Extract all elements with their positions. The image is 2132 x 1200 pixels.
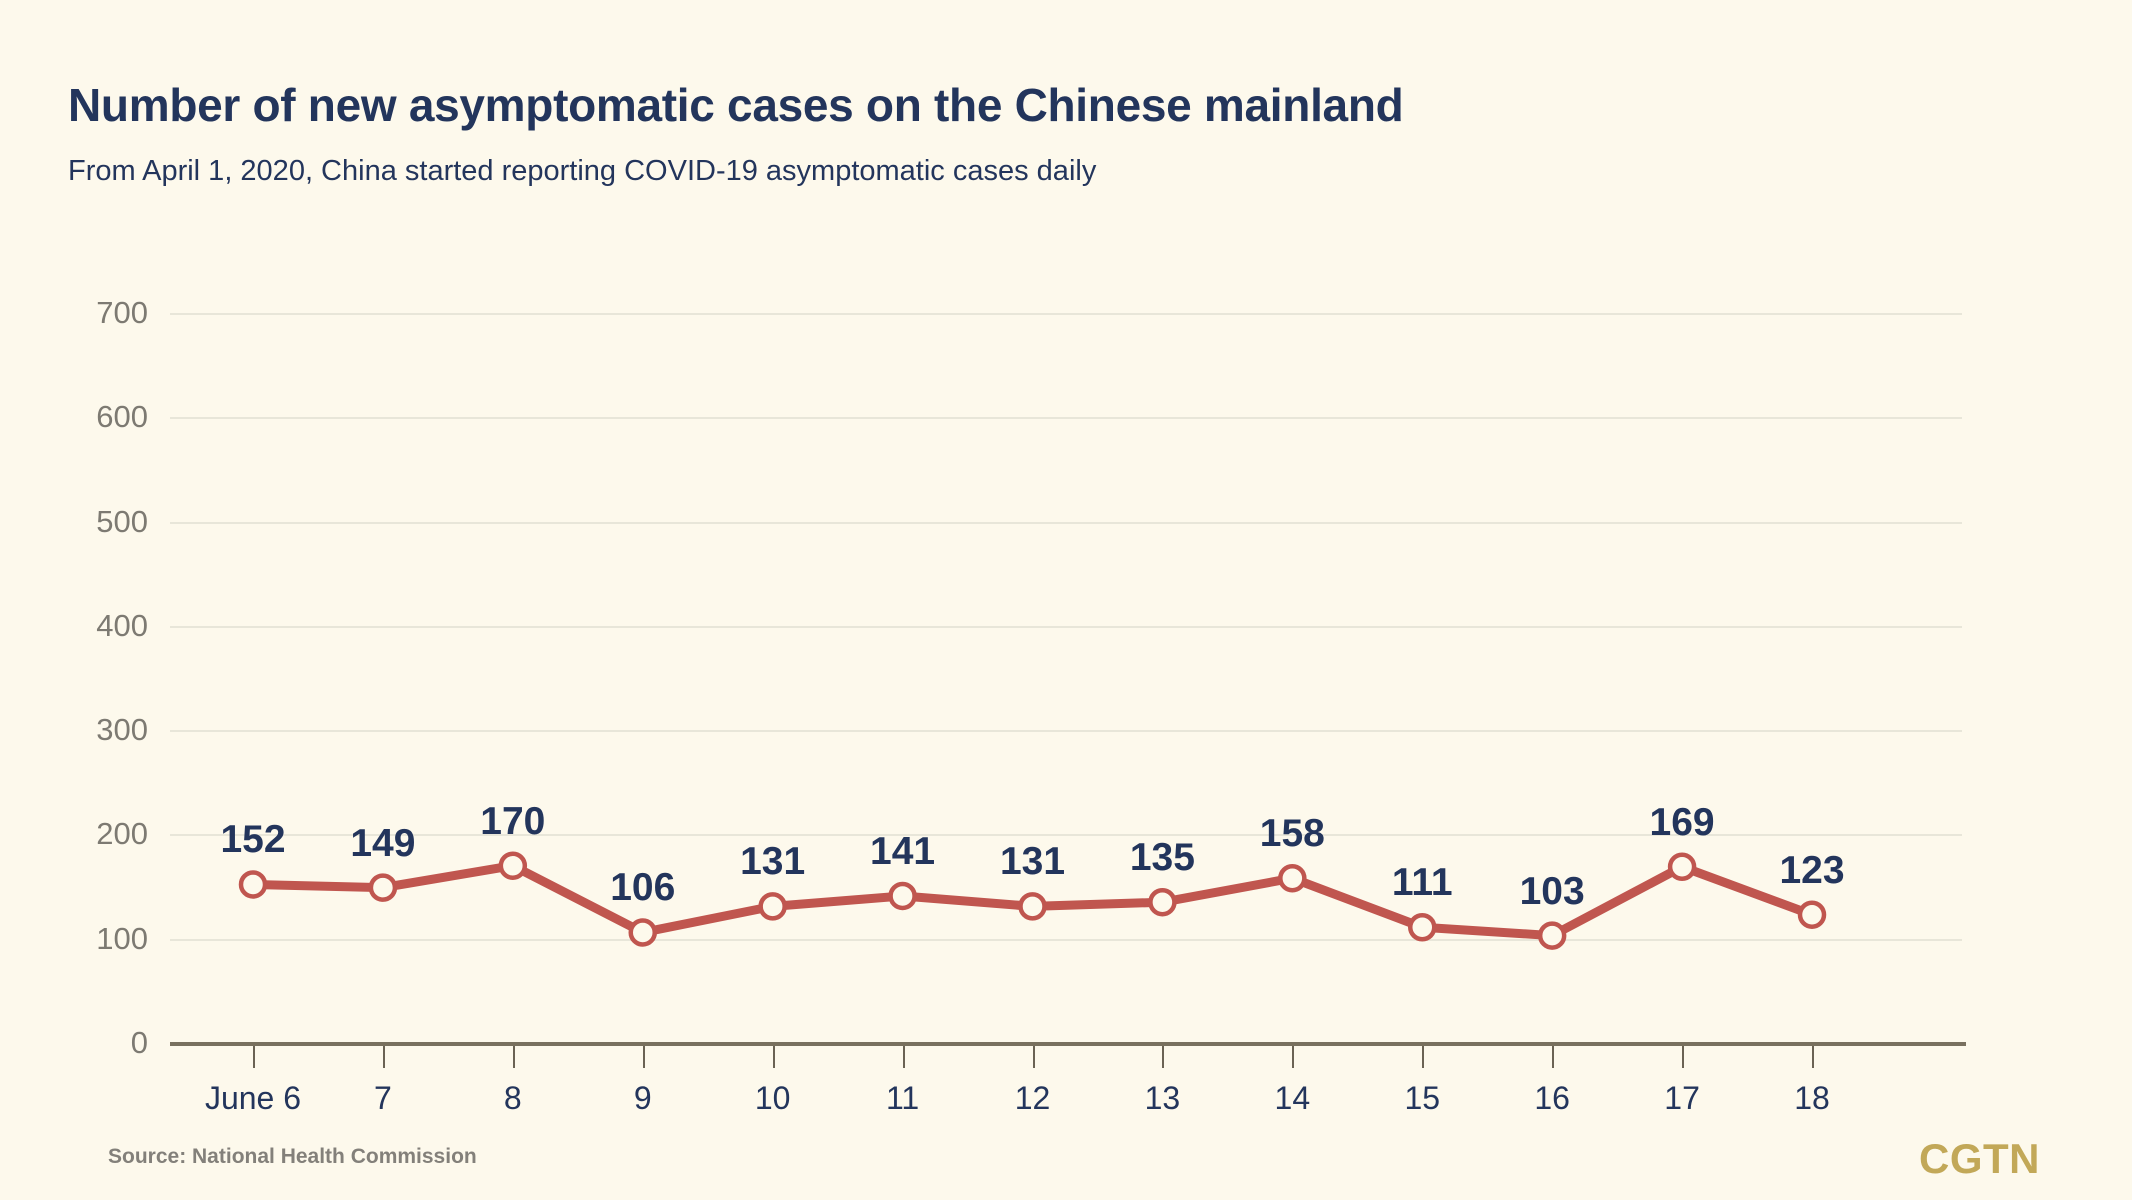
data-point-label: 123 [1779,849,1844,893]
gridline [170,417,1962,419]
data-point-label: 131 [1000,840,1065,884]
source-note: Source: National Health Commission [108,1145,477,1169]
x-axis-tick [903,1046,905,1068]
page-title: Number of new asymptomatic cases on the … [68,78,1403,132]
y-axis-tick-label: 600 [96,399,148,435]
data-point-label: 170 [480,800,545,844]
x-axis-tick-label: 17 [1664,1080,1700,1117]
chart-subtitle: From April 1, 2020, China started report… [68,155,1096,188]
data-point-label: 141 [870,830,935,874]
x-axis-tick [1812,1046,1814,1068]
x-axis-tick-label: 13 [1145,1080,1181,1117]
x-axis-tick [773,1046,775,1068]
cgtn-logo: CGTN [1919,1135,2040,1183]
data-point-label: 149 [350,822,415,866]
plot-area [170,300,1966,1043]
data-point-label: 106 [610,866,675,910]
x-axis-tick-label: 11 [886,1080,919,1117]
y-axis-labels: 0100200300400500600700 [60,0,148,1200]
x-axis-tick-label: 9 [634,1080,652,1117]
y-axis-tick-label: 0 [131,1025,148,1061]
y-axis-tick-label: 500 [96,504,148,540]
x-axis-tick-label: 10 [755,1080,791,1117]
y-axis-tick-label: 300 [96,712,148,748]
y-axis-tick-label: 100 [96,921,148,957]
gridline [170,522,1962,524]
x-axis-tick [1292,1046,1294,1068]
x-axis-tick [513,1046,515,1068]
y-axis-tick-label: 700 [96,295,148,331]
x-axis-tick [383,1046,385,1068]
x-axis-line [170,1042,1966,1046]
data-point-label: 131 [740,840,805,884]
x-axis-tick-label: 15 [1404,1080,1440,1117]
x-axis-tick-label: June 6 [205,1080,301,1117]
x-axis-tick-label: 16 [1534,1080,1570,1117]
x-axis-tick-label: 14 [1275,1080,1311,1117]
gridline [170,626,1962,628]
x-axis-tick [1552,1046,1554,1068]
data-point-label: 135 [1130,836,1195,880]
chart-page: Number of new asymptomatic cases on the … [0,0,2132,1200]
x-axis-tick-label: 18 [1794,1080,1830,1117]
x-axis-tick [1682,1046,1684,1068]
data-point-label: 111 [1392,861,1453,905]
x-axis-tick [253,1046,255,1068]
gridline [170,313,1962,315]
data-point-label: 103 [1520,870,1585,914]
x-axis-tick-label: 7 [374,1080,392,1117]
data-point-label: 158 [1260,812,1325,856]
y-axis-tick-label: 200 [96,816,148,852]
gridline [170,939,1962,941]
x-axis-tick [1033,1046,1035,1068]
x-axis-tick-label: 12 [1015,1080,1051,1117]
x-axis-tick [643,1046,645,1068]
y-axis-tick-label: 400 [96,608,148,644]
x-axis-tick [1422,1046,1424,1068]
x-axis-tick [1162,1046,1164,1068]
data-point-label: 169 [1650,801,1715,845]
x-axis-tick-label: 8 [504,1080,522,1117]
data-point-label: 152 [220,818,285,862]
gridline [170,730,1962,732]
